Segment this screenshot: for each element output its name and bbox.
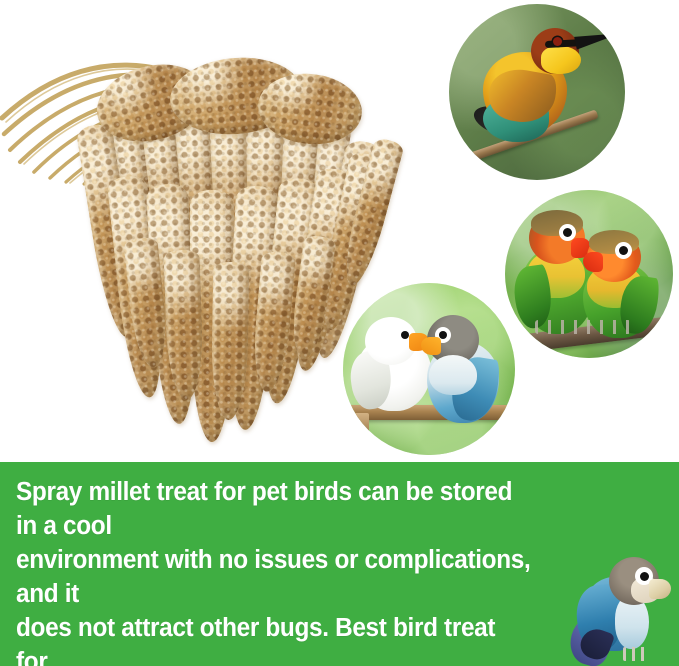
lovebird-right-eye [619, 246, 628, 255]
white-and-blue-lovebirds-photo [343, 283, 515, 455]
blue-lovebird-breast [429, 355, 477, 395]
blue-lovebird-eye [439, 331, 447, 339]
perch-bracket [353, 413, 369, 435]
fischers-lovebirds-photo [505, 190, 673, 358]
lovebird-feet [623, 647, 649, 661]
blue-lovebird-beak [421, 337, 441, 355]
bird-throat-yellow [541, 46, 581, 74]
lovebird-right-beak [583, 252, 603, 272]
bee-eater-photo [449, 4, 625, 180]
white-lovebird-eye [401, 331, 409, 339]
lovebird-feet [535, 320, 631, 334]
banner-line: does not attract other bugs. Best bird t… [16, 611, 532, 666]
banner-line: Spray millet treat for pet birds can be … [16, 475, 532, 543]
banner-line: environment with no issues or complicati… [16, 543, 532, 611]
lovebird-left-eye [563, 228, 572, 237]
lovebird-beak [649, 579, 671, 599]
bird-eye [553, 37, 562, 46]
lovebird-eye [640, 572, 649, 581]
product-image-canvas: Spray millet treat for pet birds can be … [0, 0, 679, 666]
banner-description-text: Spray millet treat for pet birds can be … [16, 475, 532, 666]
blue-masked-lovebird [569, 551, 673, 666]
